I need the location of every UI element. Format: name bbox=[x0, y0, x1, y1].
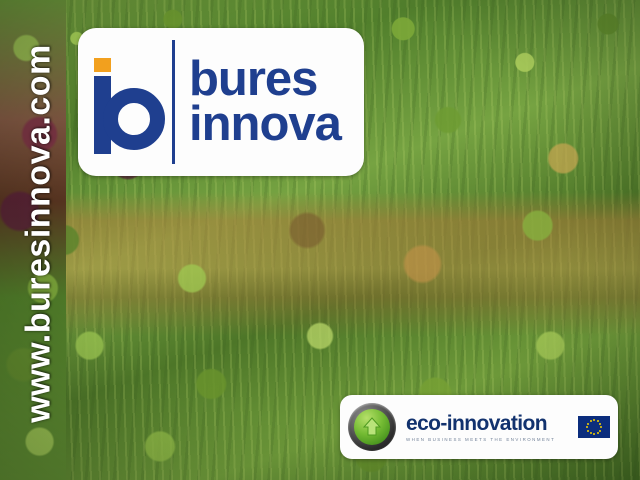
eu-flag-star bbox=[597, 420, 599, 422]
logo-divider bbox=[172, 40, 175, 164]
ib-monogram-icon bbox=[92, 50, 166, 154]
eco-innovation-tagline: WHEN BUSINESS MEETS THE ENVIRONMENT bbox=[406, 437, 570, 442]
ib-monogram-bowl bbox=[103, 88, 165, 150]
eco-innovation-name: eco-innovation bbox=[406, 413, 570, 434]
ib-monogram-orange-dot bbox=[94, 58, 111, 72]
european-union-flag-icon bbox=[576, 416, 610, 438]
eu-flag-star bbox=[590, 420, 592, 422]
eu-flag-star bbox=[599, 423, 601, 425]
eu-flag-star bbox=[587, 423, 589, 425]
presentation-slide: www.buresinnova.com bures innova CLEANLE… bbox=[0, 0, 640, 480]
eco-innovation-logo-card: eco-innovation WHEN BUSINESS MEETS THE E… bbox=[340, 395, 618, 459]
logo-word-bures: bures bbox=[189, 57, 341, 102]
up-arrow-icon bbox=[361, 416, 383, 438]
logo-word-innova: innova bbox=[189, 102, 341, 147]
eu-flag-star bbox=[597, 432, 599, 434]
eu-flag-star bbox=[593, 419, 595, 421]
eu-flag-star bbox=[590, 432, 592, 434]
eco-innovation-orb-inner bbox=[354, 409, 390, 445]
eu-flag-star bbox=[599, 430, 601, 432]
website-url-watermark: www.buresinnova.com bbox=[20, 0, 59, 469]
eco-innovation-text-block: eco-innovation WHEN BUSINESS MEETS THE E… bbox=[406, 413, 570, 442]
eco-innovation-orb-icon bbox=[348, 403, 396, 451]
eu-flag-star bbox=[587, 430, 589, 432]
bures-innova-logo-card: bures innova bbox=[78, 28, 364, 176]
logo-wordmark: bures innova bbox=[189, 57, 341, 147]
eu-flag-star bbox=[600, 426, 602, 428]
eu-flag-star bbox=[586, 426, 588, 428]
eu-flag-star bbox=[593, 433, 595, 435]
